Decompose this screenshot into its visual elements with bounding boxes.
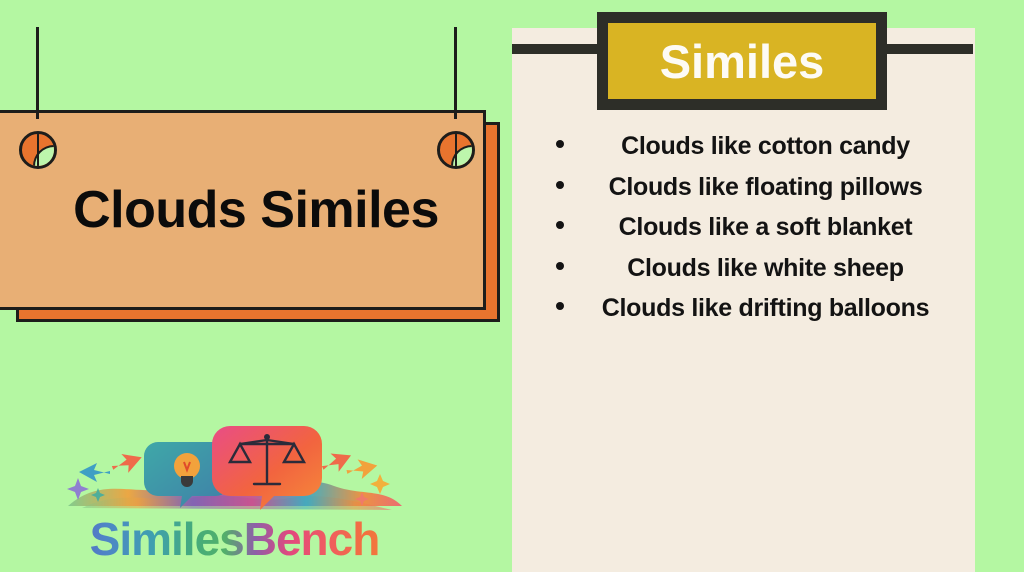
bullet-dot-icon: [556, 302, 564, 310]
list-item-label: Clouds like white sheep: [627, 254, 904, 282]
logo-artwork-icon: [62, 418, 407, 518]
simile-list: Clouds like cotton candyClouds like floa…: [512, 128, 975, 331]
ornament-divider-line: [455, 131, 457, 169]
section-header-title: Similes: [660, 38, 825, 85]
list-item: Clouds like floating pillows: [592, 169, 939, 206]
logo-wordmark: SimilesBench: [62, 512, 407, 566]
hanging-string-left: [36, 27, 39, 119]
list-item-label: Clouds like a soft blanket: [619, 213, 913, 241]
brand-logo: SimilesBench: [62, 418, 407, 566]
left-panel: Clouds Similes: [0, 0, 512, 572]
infographic-canvas: Clouds Similes: [0, 0, 1024, 572]
list-item: Clouds like a soft blanket: [592, 209, 939, 246]
list-item-label: Clouds like drifting balloons: [602, 294, 929, 322]
bullet-dot-icon: [556, 221, 564, 229]
list-item: Clouds like cotton candy: [592, 128, 939, 165]
hanging-ornament-left-icon: [19, 131, 57, 169]
list-item: Clouds like white sheep: [592, 250, 939, 287]
list-item: Clouds like drifting balloons: [592, 290, 939, 327]
bullet-dot-icon: [556, 140, 564, 148]
ornament-divider-line: [37, 131, 39, 169]
bullet-dot-icon: [556, 262, 564, 270]
bullet-dot-icon: [556, 181, 564, 189]
hanging-ornament-right-icon: [437, 131, 475, 169]
hanging-string-right: [454, 27, 457, 119]
sign-card: [0, 110, 486, 310]
list-item-label: Clouds like cotton candy: [621, 132, 910, 160]
list-item-label: Clouds like floating pillows: [609, 173, 923, 201]
section-header-badge: Similes: [597, 12, 887, 110]
